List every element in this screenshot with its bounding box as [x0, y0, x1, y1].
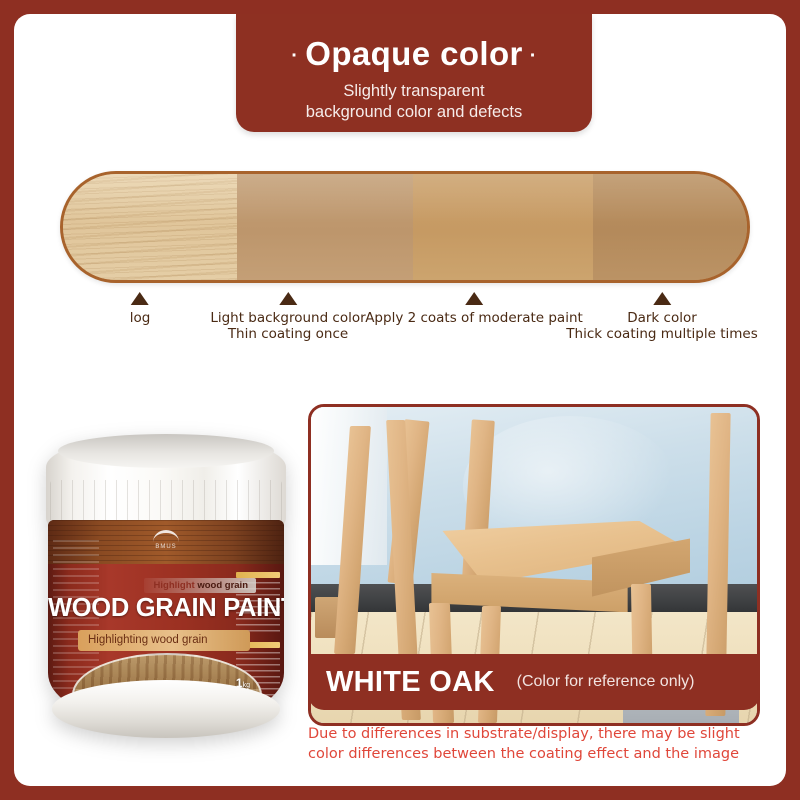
- disclaimer-line2: color differences between the coating ef…: [308, 744, 768, 764]
- jar-highlight-tag-rest: wood grain: [195, 580, 248, 591]
- triangle-pointer-icon: [465, 292, 483, 305]
- swatch-sheen: [593, 174, 747, 223]
- banner-subtitle-line2: background color and defects: [236, 102, 592, 123]
- swatch-marker-log: log: [130, 292, 151, 326]
- wood-type-caption-bar: WHITE OAK (Color for reference only): [308, 654, 760, 710]
- marker-label-line1: Dark color: [566, 310, 757, 326]
- swatch-marker-row: log Light background color Thin coating …: [14, 292, 786, 362]
- swatch-segment-dark: [593, 174, 747, 280]
- swatch-segment-light: [237, 174, 413, 280]
- marker-label-line1: log: [130, 310, 151, 326]
- bottom-section: BMUS Highlight wood grain WOOD GRAIN PAI…: [14, 386, 786, 786]
- jar-sub-band: Highlighting wood grain: [78, 630, 250, 651]
- jar-highlight-tag-strong: Highlight: [154, 580, 195, 591]
- swatch-segment-log: [63, 174, 237, 280]
- disclaimer-line1: Due to differences in substrate/display,…: [308, 724, 768, 744]
- jar-product-name: WOOD GRAIN PAINT: [48, 594, 284, 623]
- jar-lid-top: [58, 434, 274, 468]
- color-reference-note: (Color for reference only): [517, 673, 695, 691]
- brand-logo-text: BMUS: [155, 544, 176, 550]
- house-logo-icon: [153, 530, 179, 542]
- swatch-sheen: [63, 174, 237, 223]
- jar-highlight-tag: Highlight wood grain: [144, 578, 256, 593]
- marker-label-line1: Apply 2 coats of moderate paint: [365, 310, 583, 326]
- triangle-pointer-icon: [131, 292, 149, 305]
- marker-label-line2: Thick coating multiple times: [566, 326, 757, 342]
- triangle-pointer-icon: [279, 292, 297, 305]
- marker-label-line2: Thin coating once: [210, 326, 365, 342]
- title-dot-right: ·: [530, 45, 537, 67]
- product-infographic-page: ·Opaque color· Slightly transparent back…: [0, 0, 800, 800]
- page-title: ·Opaque color·: [236, 14, 592, 70]
- swatch-marker-moderate: Apply 2 coats of moderate paint: [365, 292, 583, 326]
- color-swatch-strip: [60, 171, 750, 283]
- title-dot-left: ·: [291, 45, 298, 67]
- header-banner: ·Opaque color· Slightly transparent back…: [236, 14, 592, 132]
- banner-subtitle-line1: Slightly transparent: [236, 81, 592, 102]
- swatch-sheen: [237, 174, 413, 223]
- swatch-segment-moderate: [413, 174, 593, 280]
- banner-subtitle: Slightly transparent background color an…: [236, 70, 592, 123]
- paint-jar: BMUS Highlight wood grain WOOD GRAIN PAI…: [46, 408, 286, 738]
- triangle-pointer-icon: [653, 292, 671, 305]
- wood-type-name: WHITE OAK: [326, 666, 495, 699]
- marker-label-line1: Light background color: [210, 310, 365, 326]
- swatch-pill: [60, 171, 750, 283]
- paint-jar-photo: BMUS Highlight wood grain WOOD GRAIN PAI…: [38, 408, 294, 748]
- color-disclaimer: Due to differences in substrate/display,…: [308, 724, 768, 764]
- jar-base: [52, 680, 280, 738]
- swatch-marker-dark: Dark color Thick coating multiple times: [566, 292, 757, 342]
- swatch-sheen: [413, 174, 593, 223]
- page-content: ·Opaque color· Slightly transparent back…: [14, 14, 786, 786]
- title-text: Opaque color: [305, 35, 523, 72]
- swatch-marker-light: Light background color Thin coating once: [210, 292, 365, 342]
